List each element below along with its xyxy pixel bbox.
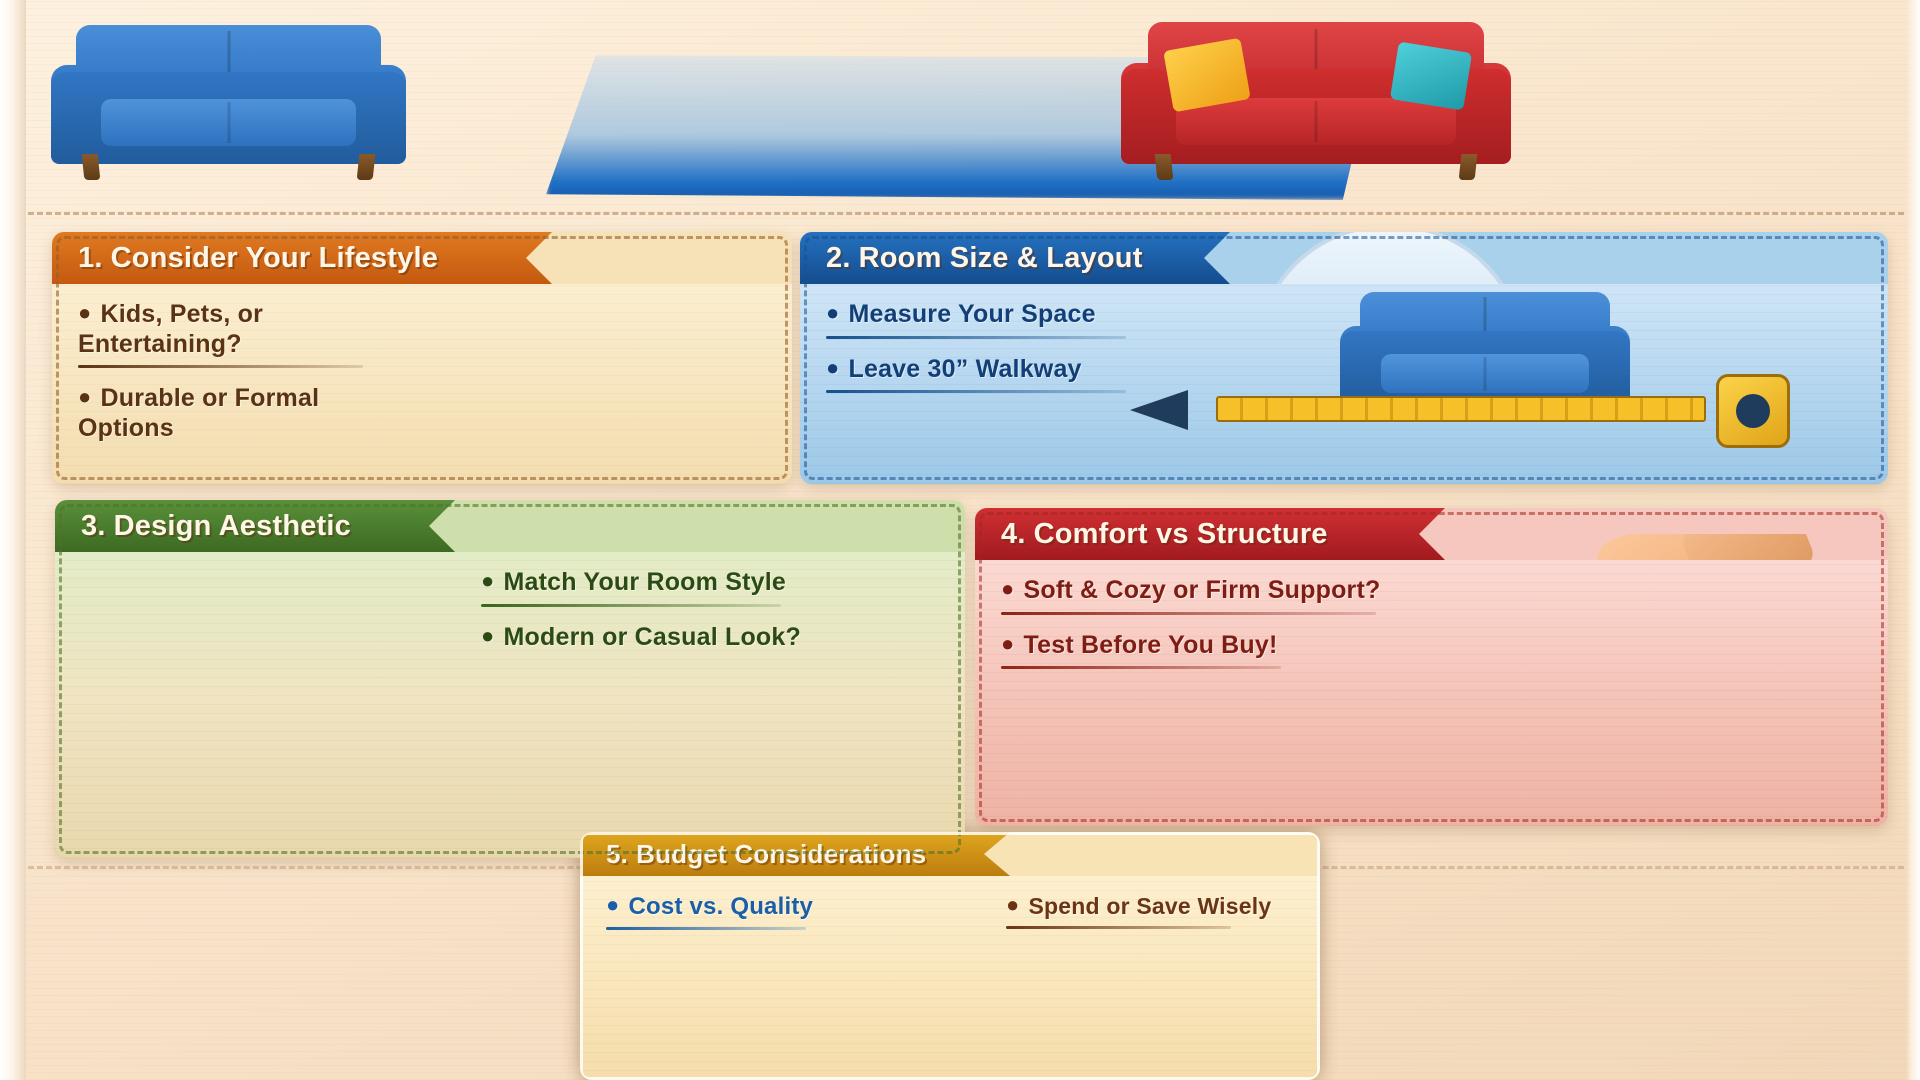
card-number: 5. [606,839,628,870]
blue-sofa [51,25,406,180]
card-title: Room Size & Layout [859,242,1143,275]
card-ribbon: 4. Comfort vs Structure [975,508,1445,560]
card-bullets: ●Kids, Pets, or Entertaining? ●Durable o… [52,284,382,453]
bullet-underline [826,336,1126,339]
sofa-leg-left [82,154,101,180]
bullet-text: Match Your Room Style [504,568,786,596]
bullet-dot: ● [1001,631,1015,657]
card-number: 2. [826,242,851,275]
sofa-leg-left [1155,154,1174,180]
bullet-item: ●Measure Your Space [826,300,1160,339]
bullet-dot: ● [826,355,840,381]
bullet-dot: ● [606,892,620,918]
card-number: 1. [78,242,103,275]
bullet-item: ●Leave 30” Walkway [826,355,1160,394]
card-bullets-right: ●Spend or Save Wisely [980,876,1310,939]
sofa-seat [1381,354,1590,393]
bullet-text: Kids, Pets, or Entertaining? [78,300,263,358]
bullet-item: ●Kids, Pets, or Entertaining? [78,300,362,368]
bullet-text: Cost vs. Quality [629,893,814,920]
tape-measure [1130,390,1790,430]
bullet-dot: ● [78,300,92,326]
card-room-size[interactable]: 2. Room Size & Layout ●Measure Your Spac… [800,232,1888,484]
bullet-item: ●Modern or Casual Look? [481,623,885,653]
card-ribbon: 2. Room Size & Layout [800,232,1230,284]
bullet-text: Spend or Save Wisely [1029,893,1272,919]
bullet-dot: ● [1001,576,1015,602]
card-bullets-left: ●Cost vs. Quality [580,876,880,940]
bullet-item: ●Spend or Save Wisely [1006,892,1290,929]
bullet-underline [1006,926,1231,929]
card-budget[interactable]: $ 5. Budget Considerations ●Cost vs. Qua… [580,832,1320,1080]
bullet-text: Modern or Casual Look? [504,623,801,651]
divider-top [28,212,1904,215]
bullet-dot: ● [78,384,92,410]
bullet-text: Measure Your Space [849,300,1096,328]
bullet-item: ●Test Before You Buy! [1001,631,1385,670]
card-title: Consider Your Lifestyle [111,242,438,275]
bullet-text: Leave 30” Walkway [849,355,1082,383]
bullet-item: ●Soft & Cozy or Firm Support? [1001,576,1385,615]
card-lifestyle[interactable]: 1. Consider Your Lifestyle ●Kids, Pets, … [52,232,792,484]
sofa-seat [101,99,357,146]
card-bullets: ●Match Your Room Style ●Modern or Casual… [455,552,905,662]
bullet-item: ●Durable or Formal Options [78,384,362,443]
infographic-canvas: 1. Consider Your Lifestyle ●Kids, Pets, … [0,0,1920,1080]
sofa-leg-right [1459,154,1478,180]
page-left-margin [0,0,26,1080]
card-bullets: ●Soft & Cozy or Firm Support? ●Test Befo… [975,560,1405,679]
bullet-item: ●Cost vs. Quality [606,892,860,930]
bullet-underline [78,365,363,368]
bullet-underline [1001,612,1376,615]
top-banner [26,0,1906,215]
teal-pillow [1390,42,1472,111]
card-title: Budget Considerations [636,839,926,870]
bullet-dot: ● [481,623,495,649]
card-bullets: ●Measure Your Space ●Leave 30” Walkway [800,284,1180,403]
bullet-dot: ● [1006,892,1020,918]
bullet-dot: ● [826,300,840,326]
bullet-text: Soft & Cozy or Firm Support? [1024,576,1381,604]
card-ribbon: 5. Budget Considerations [580,832,1010,876]
card-ribbon: 1. Consider Your Lifestyle [52,232,552,284]
card-comfort-structure[interactable]: 4. Comfort vs Structure ●Soft & Cozy or … [975,508,1888,826]
bullet-underline [1001,666,1281,669]
page-right-margin [1906,0,1920,1080]
card-title: Design Aesthetic [114,510,351,543]
bullet-underline [826,390,1126,393]
sofa-leg-right [357,154,376,180]
card-number: 4. [1001,518,1026,551]
bullet-item: ●Match Your Room Style [481,568,885,607]
card-design-aesthetic[interactable]: 3. Design Aesthetic ●Match Your Room Sty… [55,500,965,858]
sofa-seat [1176,98,1457,145]
bullet-underline [606,927,806,930]
red-sofa [1121,22,1511,180]
bullet-underline [481,604,781,607]
card-ribbon: 3. Design Aesthetic [55,500,455,552]
bullet-text: Durable or Formal Options [78,384,319,442]
card-title: Comfort vs Structure [1034,518,1328,551]
card-number: 3. [81,510,106,543]
bullet-dot: ● [481,568,495,594]
bullet-text: Test Before You Buy! [1024,631,1278,659]
